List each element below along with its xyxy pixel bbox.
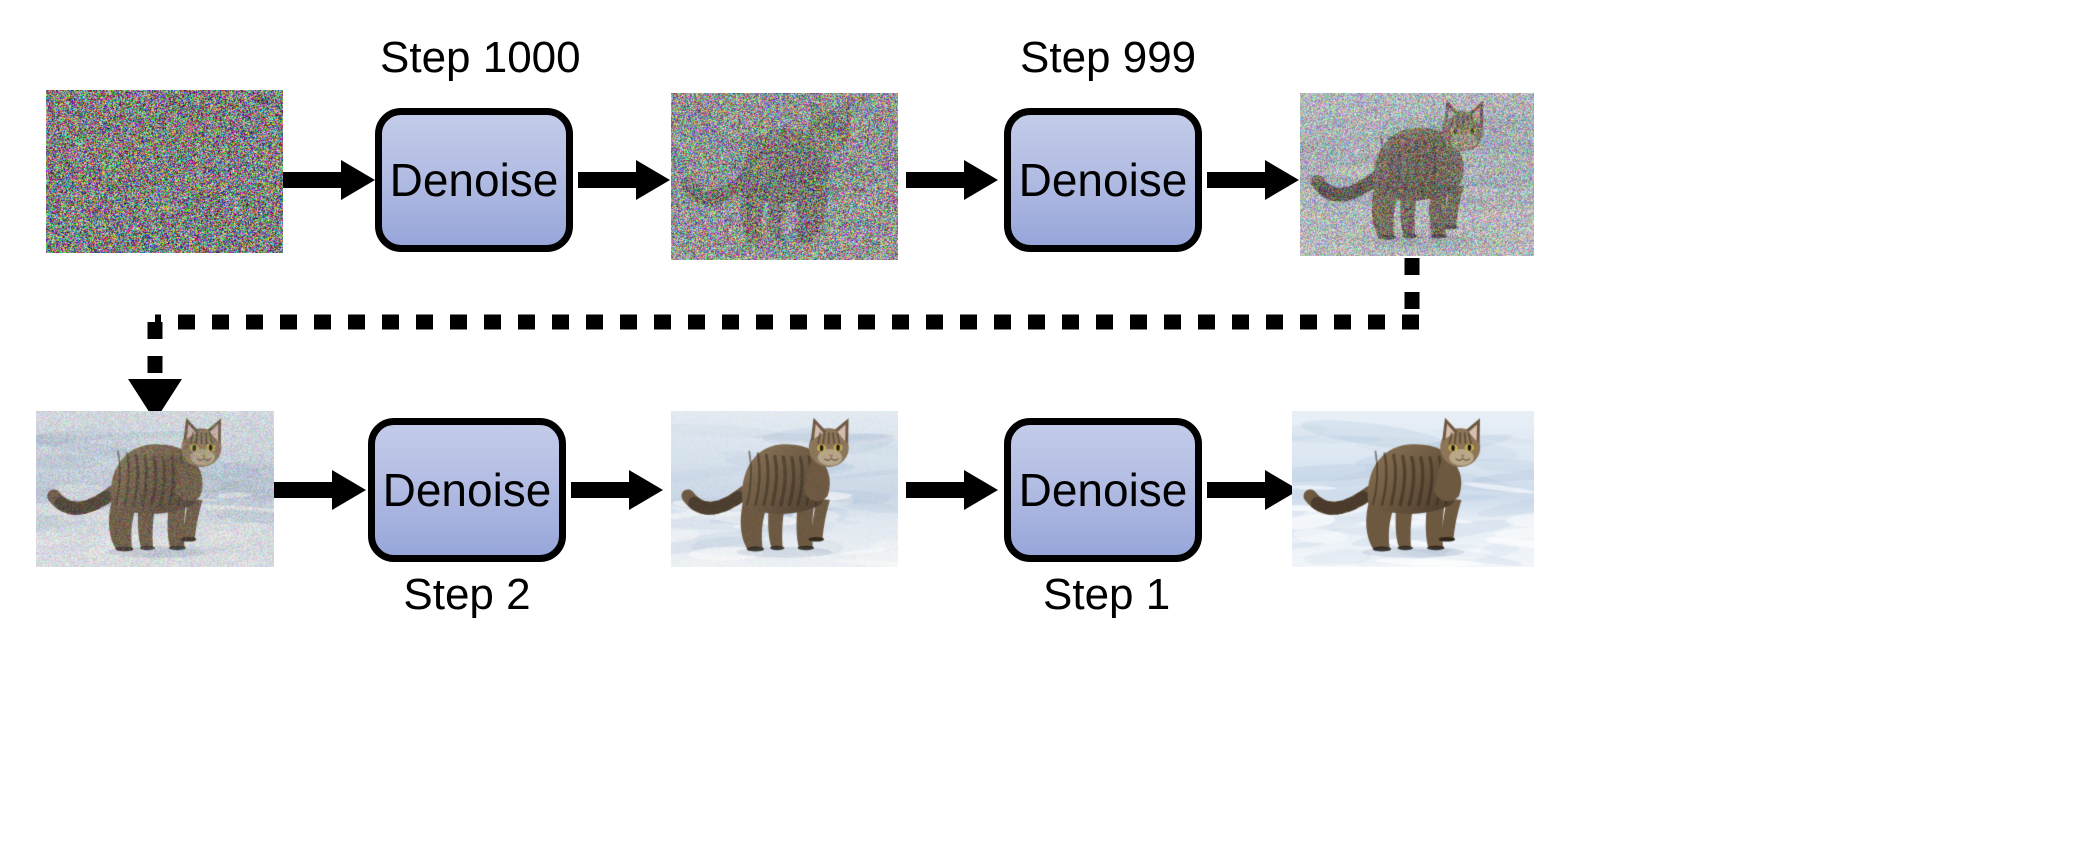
arrow-denoise-3-to-image-5 bbox=[571, 470, 663, 510]
step-label-999: Step 999 bbox=[1020, 36, 1196, 80]
step-label-1000: Step 1000 bbox=[380, 36, 570, 80]
image-noisy-cat-medium bbox=[1300, 93, 1534, 256]
image-noisy-cat-heavy bbox=[671, 93, 898, 260]
denoise-box-step-1000[interactable]: Denoise bbox=[375, 108, 573, 252]
denoise-box-step-2[interactable]: Denoise bbox=[368, 418, 566, 562]
arrow-image-2-to-denoise-2 bbox=[906, 160, 998, 200]
denoise-box-label: Denoise bbox=[1019, 463, 1188, 517]
arrow-image-4-to-denoise-3 bbox=[274, 470, 366, 510]
image-clean-cat-canvas bbox=[1292, 411, 1534, 567]
step-label-1: Step 1 bbox=[1043, 573, 1163, 617]
image-noisy-cat-light-canvas bbox=[36, 411, 274, 567]
image-pure-noise bbox=[46, 90, 283, 253]
diagram-canvas: Step 1000 Denoise Step 999 Denoise bbox=[0, 0, 2074, 858]
image-noisy-cat-medium-canvas bbox=[1300, 93, 1534, 256]
arrow-denoise-1-to-image-2 bbox=[578, 160, 670, 200]
denoise-box-label: Denoise bbox=[1019, 153, 1188, 207]
image-noisy-cat-faint-canvas bbox=[671, 411, 898, 567]
denoise-box-step-1[interactable]: Denoise bbox=[1004, 418, 1202, 562]
image-pure-noise-canvas bbox=[46, 90, 283, 253]
arrow-noise-to-denoise-1 bbox=[283, 160, 375, 200]
image-clean-cat bbox=[1292, 411, 1534, 567]
image-noisy-cat-faint bbox=[671, 411, 898, 567]
arrow-denoise-2-to-image-3 bbox=[1207, 160, 1299, 200]
arrow-image-5-to-denoise-4 bbox=[906, 470, 998, 510]
denoise-box-label: Denoise bbox=[383, 463, 552, 517]
denoise-box-step-999[interactable]: Denoise bbox=[1004, 108, 1202, 252]
denoise-box-label: Denoise bbox=[390, 153, 559, 207]
arrow-denoise-4-to-final-image bbox=[1207, 470, 1299, 510]
image-noisy-cat-light bbox=[36, 411, 274, 567]
image-noisy-cat-heavy-canvas bbox=[671, 93, 898, 260]
step-label-2: Step 2 bbox=[398, 573, 536, 617]
